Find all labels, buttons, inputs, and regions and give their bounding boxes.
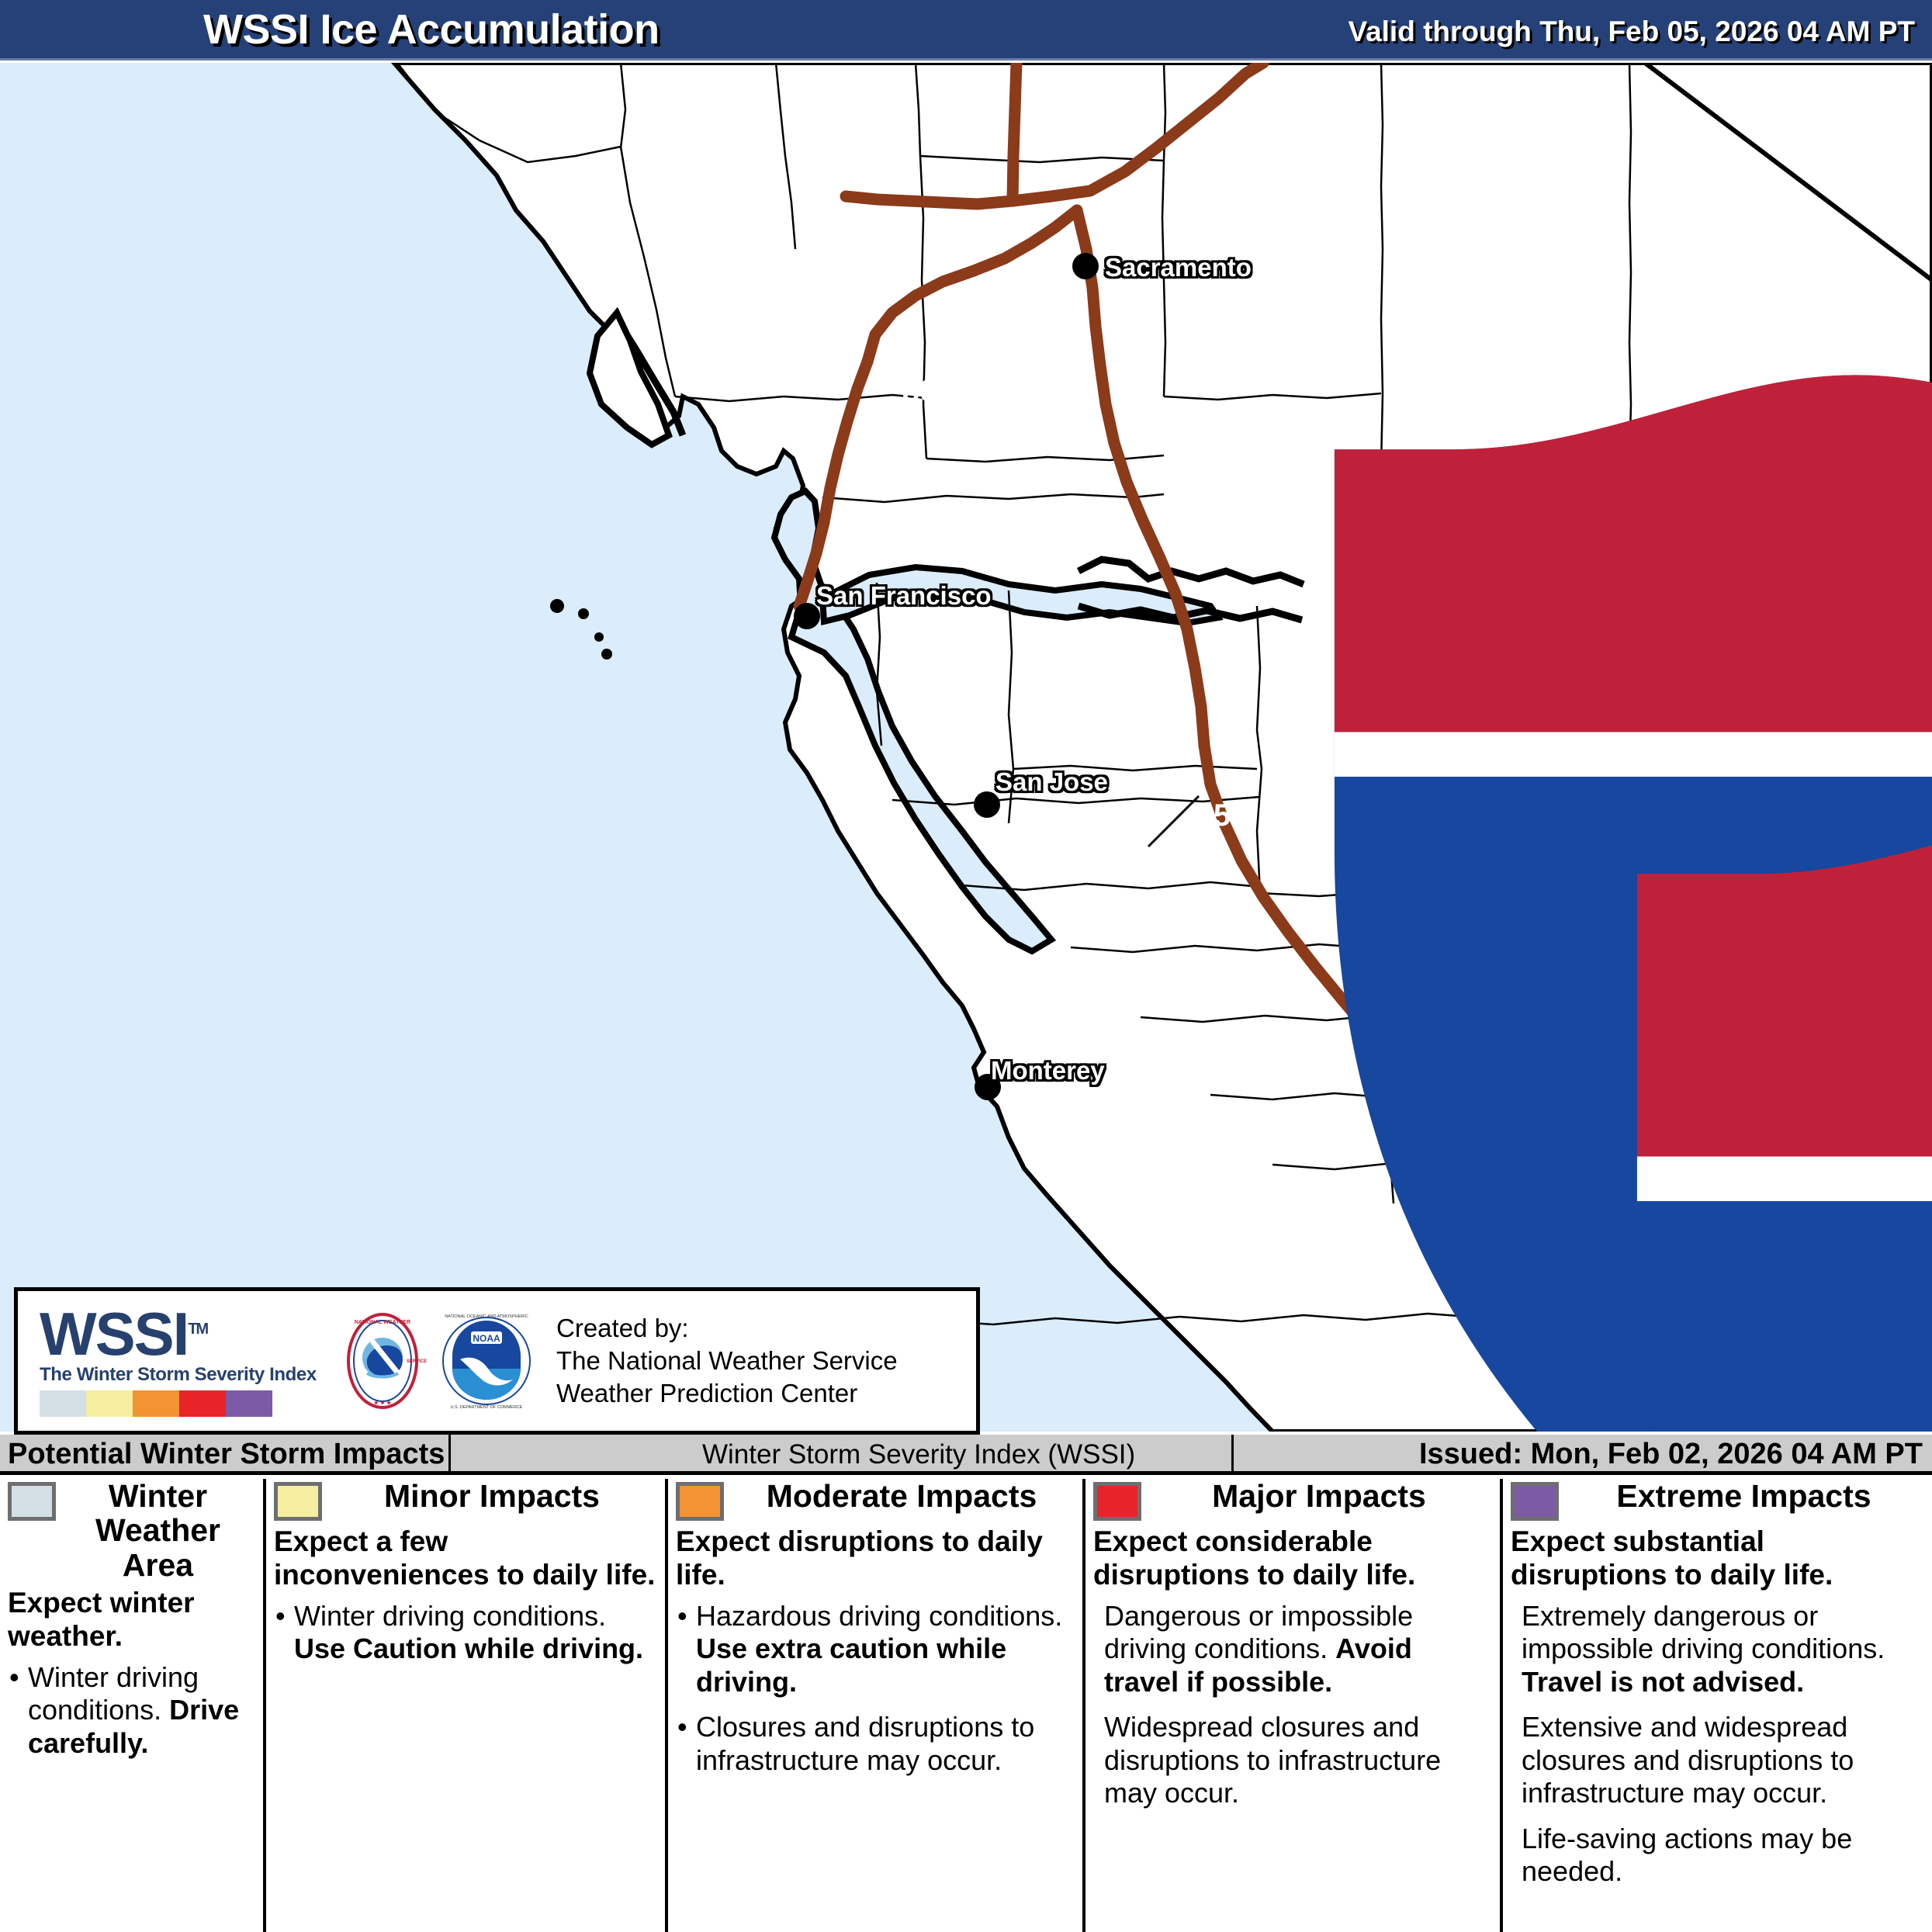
swatch-winter-weather-area [8, 1482, 56, 1521]
farallon-island-2 [578, 608, 589, 619]
swatch-minor-impacts [274, 1482, 322, 1521]
color-bar-major [179, 1390, 226, 1417]
svg-text:★ ★ ★: ★ ★ ★ [374, 1400, 392, 1406]
interstate-shield-80: 80 [889, 345, 950, 417]
bullet-text: Extremely dangerous or impossible drivin… [1522, 1600, 1885, 1664]
legend-header: Winter Weather Area [8, 1479, 255, 1582]
noaa-seal-icon: NOAA NATIONAL OCEANIC AND ATMOSPHERIC U.… [437, 1311, 536, 1411]
wssi-map-page: WSSI Ice Accumulation Valid through Thu,… [0, 0, 1932, 1932]
page-title: WSSI Ice Accumulation [203, 5, 660, 54]
valid-through-text: Valid through Thu, Feb 05, 2026 04 AM PT [1348, 16, 1915, 48]
created-by-line2: Weather Prediction Center [556, 1377, 898, 1410]
legend-header: Moderate Impacts [676, 1479, 1075, 1521]
bullet-text: Hazardous driving conditions. [696, 1600, 1062, 1632]
legend-summary-extreme-impacts: Expect substantial disruptions to daily … [1511, 1525, 1924, 1592]
legend-title-winter-weather-area: Winter Weather Area [56, 1479, 255, 1582]
swatch-moderate-impacts [676, 1482, 724, 1521]
bullet-bold-tail: Use Caution while driving. [294, 1633, 643, 1664]
legend-summary-moderate-impacts: Expect disruptions to daily life. [676, 1525, 1075, 1592]
nws-seal-icon: NATIONAL WEATHER ★ ★ ★ SERVICE [333, 1311, 432, 1411]
color-bar-winter-weather [40, 1390, 86, 1417]
bullet-text: Widespread closures and disruptions to i… [1104, 1711, 1441, 1809]
swatch-extreme-impacts [1511, 1482, 1559, 1521]
city-dot-san-francisco [794, 603, 820, 629]
wssi-wordmark: WSSITM [40, 1305, 328, 1362]
bullet-dot-icon: • [275, 1600, 286, 1633]
weather-map[interactable]: Sacramento San Francisco San Jose Fresno… [0, 63, 1932, 1432]
highway-west-branch [846, 196, 1013, 204]
color-bar-extreme [226, 1390, 272, 1417]
impact-legend: Winter Weather Area Expect winter weathe… [0, 1479, 1932, 1932]
svg-text:NATIONAL WEATHER: NATIONAL WEATHER [355, 1320, 410, 1325]
legend-column-winter-weather-area[interactable]: Winter Weather Area Expect winter weathe… [0, 1479, 266, 1932]
bullet-text: Winter driving conditions. [294, 1600, 606, 1632]
legend-summary-winter-weather-area: Expect winter weather. [8, 1587, 255, 1653]
legend-title-minor-impacts: Minor Impacts [322, 1479, 657, 1513]
bullet-bold-tail: Travel is not advised. [1522, 1666, 1804, 1698]
bullet-dot-icon: • [677, 1600, 687, 1633]
legend-header: Major Impacts [1093, 1479, 1492, 1521]
legend-bullet: Life-saving actions may be needed. [1511, 1823, 1924, 1889]
shield-5-number: 5 [1192, 798, 1252, 833]
created-by-line1: The National Weather Service [556, 1345, 898, 1377]
color-bar-moderate [133, 1390, 179, 1417]
color-bar-minor [86, 1390, 133, 1417]
legend-column-major-impacts[interactable]: Major Impacts Expect considerable disrup… [1085, 1479, 1503, 1932]
status-divider-1 [448, 1435, 451, 1475]
legend-summary-major-impacts: Expect considerable disruptions to daily… [1093, 1525, 1492, 1592]
legend-column-moderate-impacts[interactable]: Moderate Impacts Expect disruptions to d… [668, 1479, 1085, 1932]
legend-bullet: Extensive and widespread closures and di… [1511, 1711, 1924, 1809]
legend-bullets-moderate-impacts: •Hazardous driving conditions. Use extra… [676, 1600, 1075, 1777]
bullet-dot-icon: • [9, 1661, 19, 1694]
highway-i80-north [1013, 63, 1016, 201]
legend-bullet: Dangerous or impossible driving conditio… [1093, 1600, 1492, 1698]
svg-text:NATIONAL OCEANIC AND ATMOSPHER: NATIONAL OCEANIC AND ATMOSPHERIC [445, 1314, 528, 1319]
svg-text:SERVICE: SERVICE [407, 1359, 427, 1364]
city-dot-sacramento [1072, 253, 1099, 279]
bullet-text: Life-saving actions may be needed. [1522, 1823, 1852, 1887]
legend-bullet: •Winter driving conditions. Use Caution … [274, 1600, 657, 1666]
legend-header: Minor Impacts [274, 1479, 657, 1521]
shield-80-number: 80 [889, 374, 950, 409]
bullet-text: Extensive and widespread closures and di… [1522, 1711, 1854, 1809]
legend-bullet: Extremely dangerous or impossible drivin… [1511, 1600, 1924, 1698]
swatch-major-impacts [1093, 1482, 1141, 1521]
created-by-block: Created by: The National Weather Service… [556, 1312, 898, 1411]
status-potential-impacts: Potential Winter Storm Impacts [8, 1438, 445, 1471]
shield-5-icon [1192, 770, 1932, 1432]
status-bar: Potential Winter Storm Impacts Winter St… [0, 1435, 1932, 1475]
legend-bullets-minor-impacts: •Winter driving conditions. Use Caution … [274, 1600, 657, 1666]
legend-summary-minor-impacts: Expect a few inconveniences to daily lif… [274, 1525, 657, 1592]
page-header: WSSI Ice Accumulation Valid through Thu,… [0, 0, 1932, 61]
legend-bullets-major-impacts: Dangerous or impossible driving conditio… [1093, 1600, 1492, 1810]
farallon-island-4 [601, 649, 612, 660]
legend-bullet: •Winter driving conditions. Drive carefu… [8, 1661, 255, 1760]
status-wssi-label: Winter Storm Severity Index (WSSI) [702, 1439, 1135, 1470]
interstate-shield-5: 5 [1192, 770, 1252, 841]
legend-title-moderate-impacts: Moderate Impacts [724, 1479, 1075, 1513]
legend-bullets-extreme-impacts: Extremely dangerous or impossible drivin… [1511, 1600, 1924, 1889]
svg-text:NOAA: NOAA [473, 1333, 500, 1344]
legend-bullet: Widespread closures and disruptions to i… [1093, 1711, 1492, 1809]
wssi-logo-box: WSSITM The Winter Storm Severity Index N… [14, 1287, 980, 1435]
svg-text:U.S. DEPARTMENT OF COMMERCE: U.S. DEPARTMENT OF COMMERCE [451, 1405, 523, 1410]
wssi-wordmark-text: WSSI [40, 1300, 188, 1368]
legend-column-extreme-impacts[interactable]: Extreme Impacts Expect substantial disru… [1503, 1479, 1932, 1932]
bullet-text: Closures and disruptions to infrastructu… [696, 1711, 1034, 1775]
wssi-tagline: The Winter Storm Severity Index [40, 1364, 328, 1386]
farallon-island-3 [594, 632, 604, 642]
bullet-dot-icon: • [677, 1711, 687, 1743]
wssi-trademark: TM [188, 1321, 207, 1338]
legend-column-minor-impacts[interactable]: Minor Impacts Expect a few inconvenience… [266, 1479, 668, 1932]
legend-bullets-winter-weather-area: •Winter driving conditions. Drive carefu… [8, 1661, 255, 1760]
status-divider-2 [1231, 1435, 1234, 1475]
legend-bullet: •Hazardous driving conditions. Use extra… [676, 1600, 1075, 1698]
status-issued-text: Issued: Mon, Feb 02, 2026 04 AM PT [1419, 1438, 1923, 1471]
legend-bullet: •Closures and disruptions to infrastruct… [676, 1711, 1075, 1777]
created-by-label: Created by: [556, 1312, 898, 1345]
legend-header: Extreme Impacts [1511, 1479, 1924, 1521]
bullet-bold-tail: Use extra caution while driving. [696, 1633, 1006, 1697]
legend-title-major-impacts: Major Impacts [1141, 1479, 1492, 1513]
wssi-brand-logo: WSSITM The Winter Storm Severity Index [18, 1305, 328, 1417]
wssi-color-bar [40, 1390, 272, 1417]
farallon-island-1 [550, 599, 564, 613]
legend-title-extreme-impacts: Extreme Impacts [1559, 1479, 1924, 1513]
